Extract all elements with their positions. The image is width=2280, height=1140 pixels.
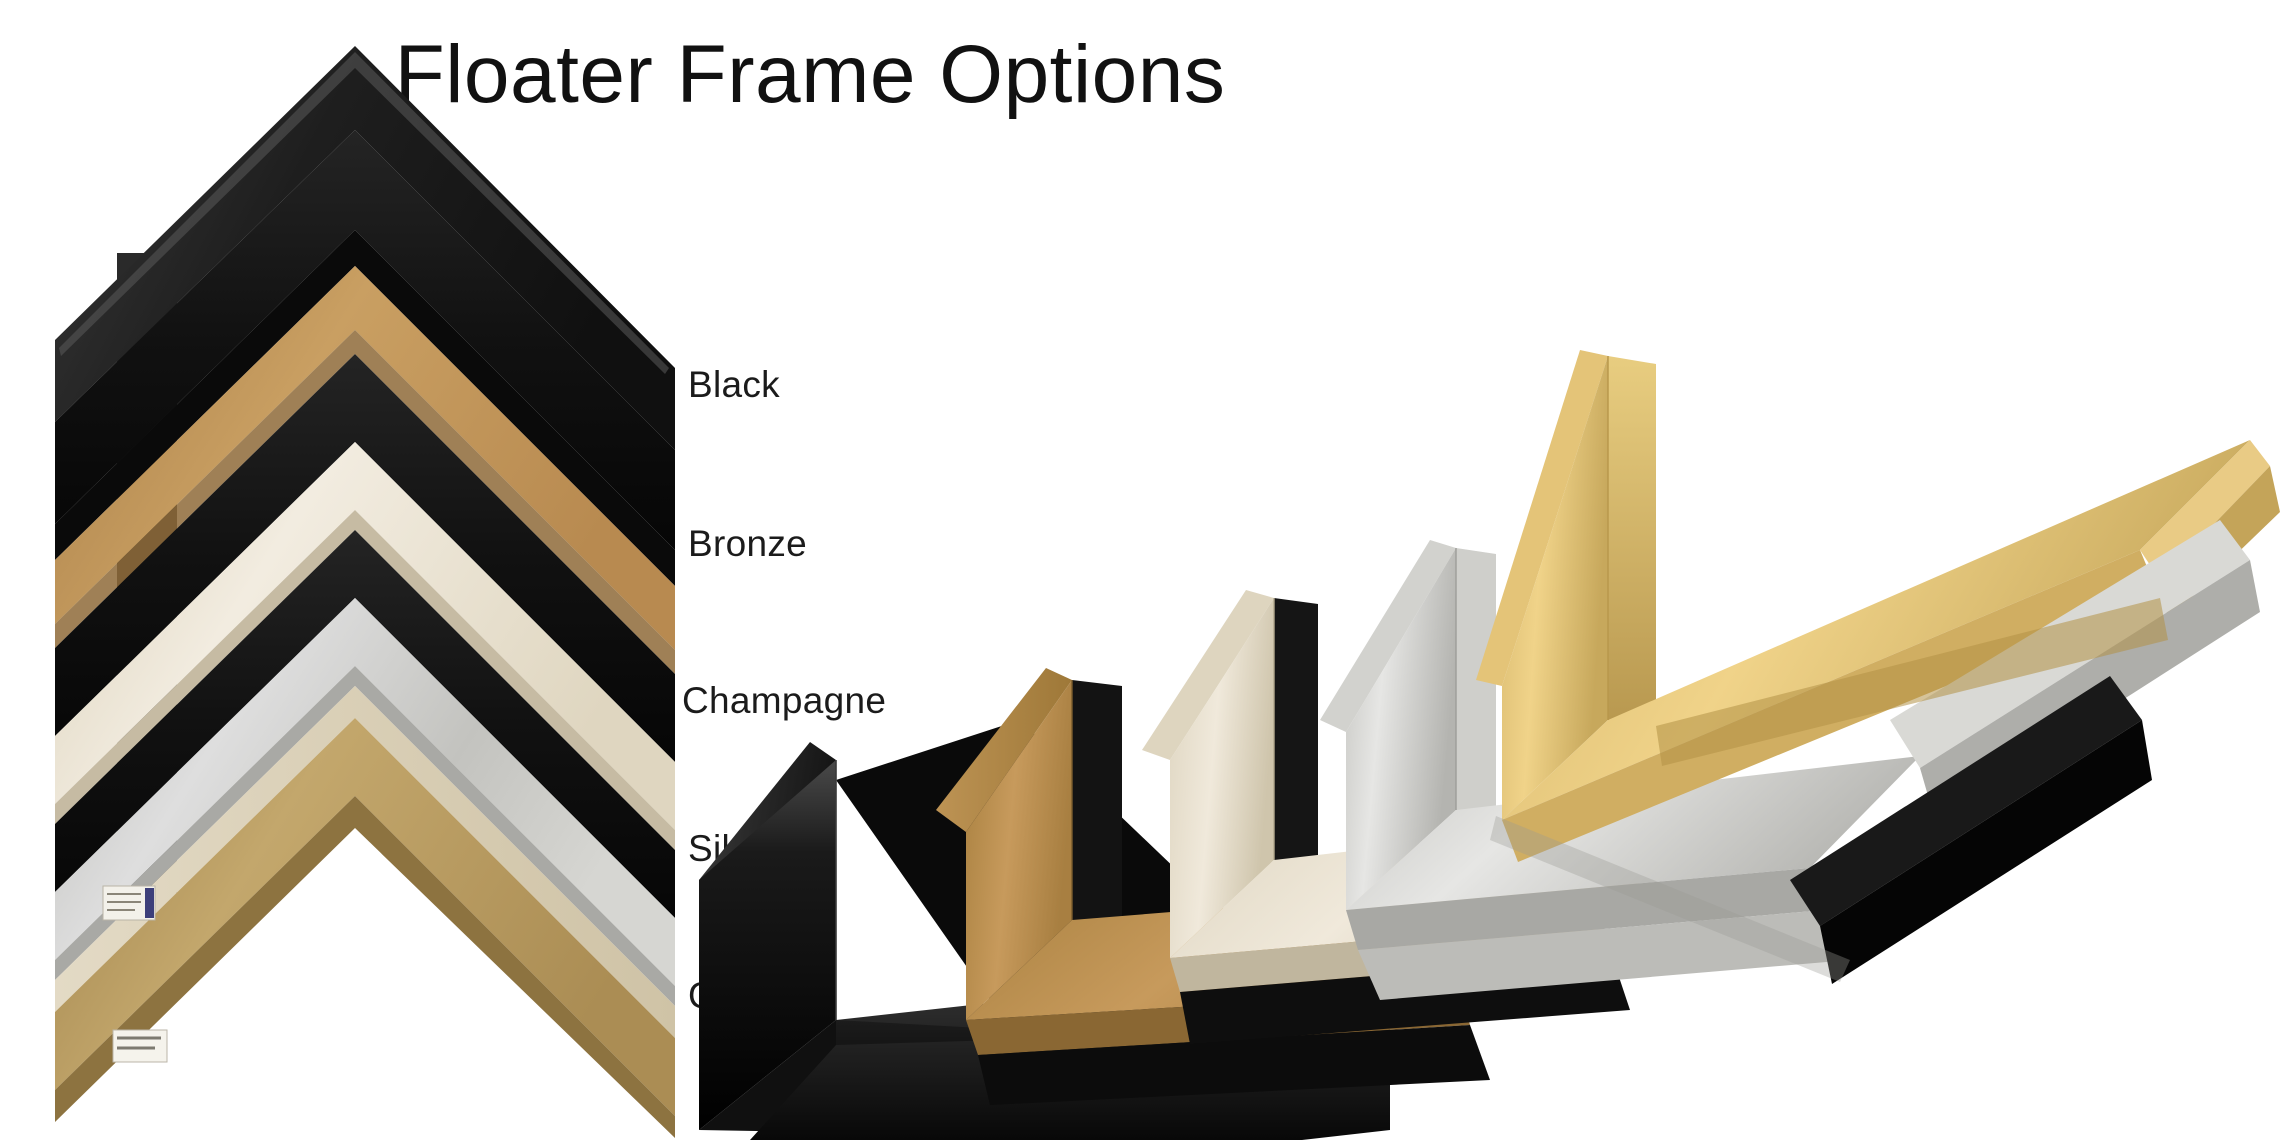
slide-canvas: Floater Frame Options [0, 0, 2280, 1140]
frame-sample-stack-image [55, 38, 675, 1138]
frame-corner-angled-image [690, 120, 2280, 1140]
gold-left-leg-inner [1608, 356, 1656, 726]
frame-stack-svg [55, 38, 675, 1138]
frame-angled-svg [690, 120, 2280, 1140]
product-sticker-silver [103, 886, 155, 920]
product-sticker-gold [113, 1030, 167, 1062]
